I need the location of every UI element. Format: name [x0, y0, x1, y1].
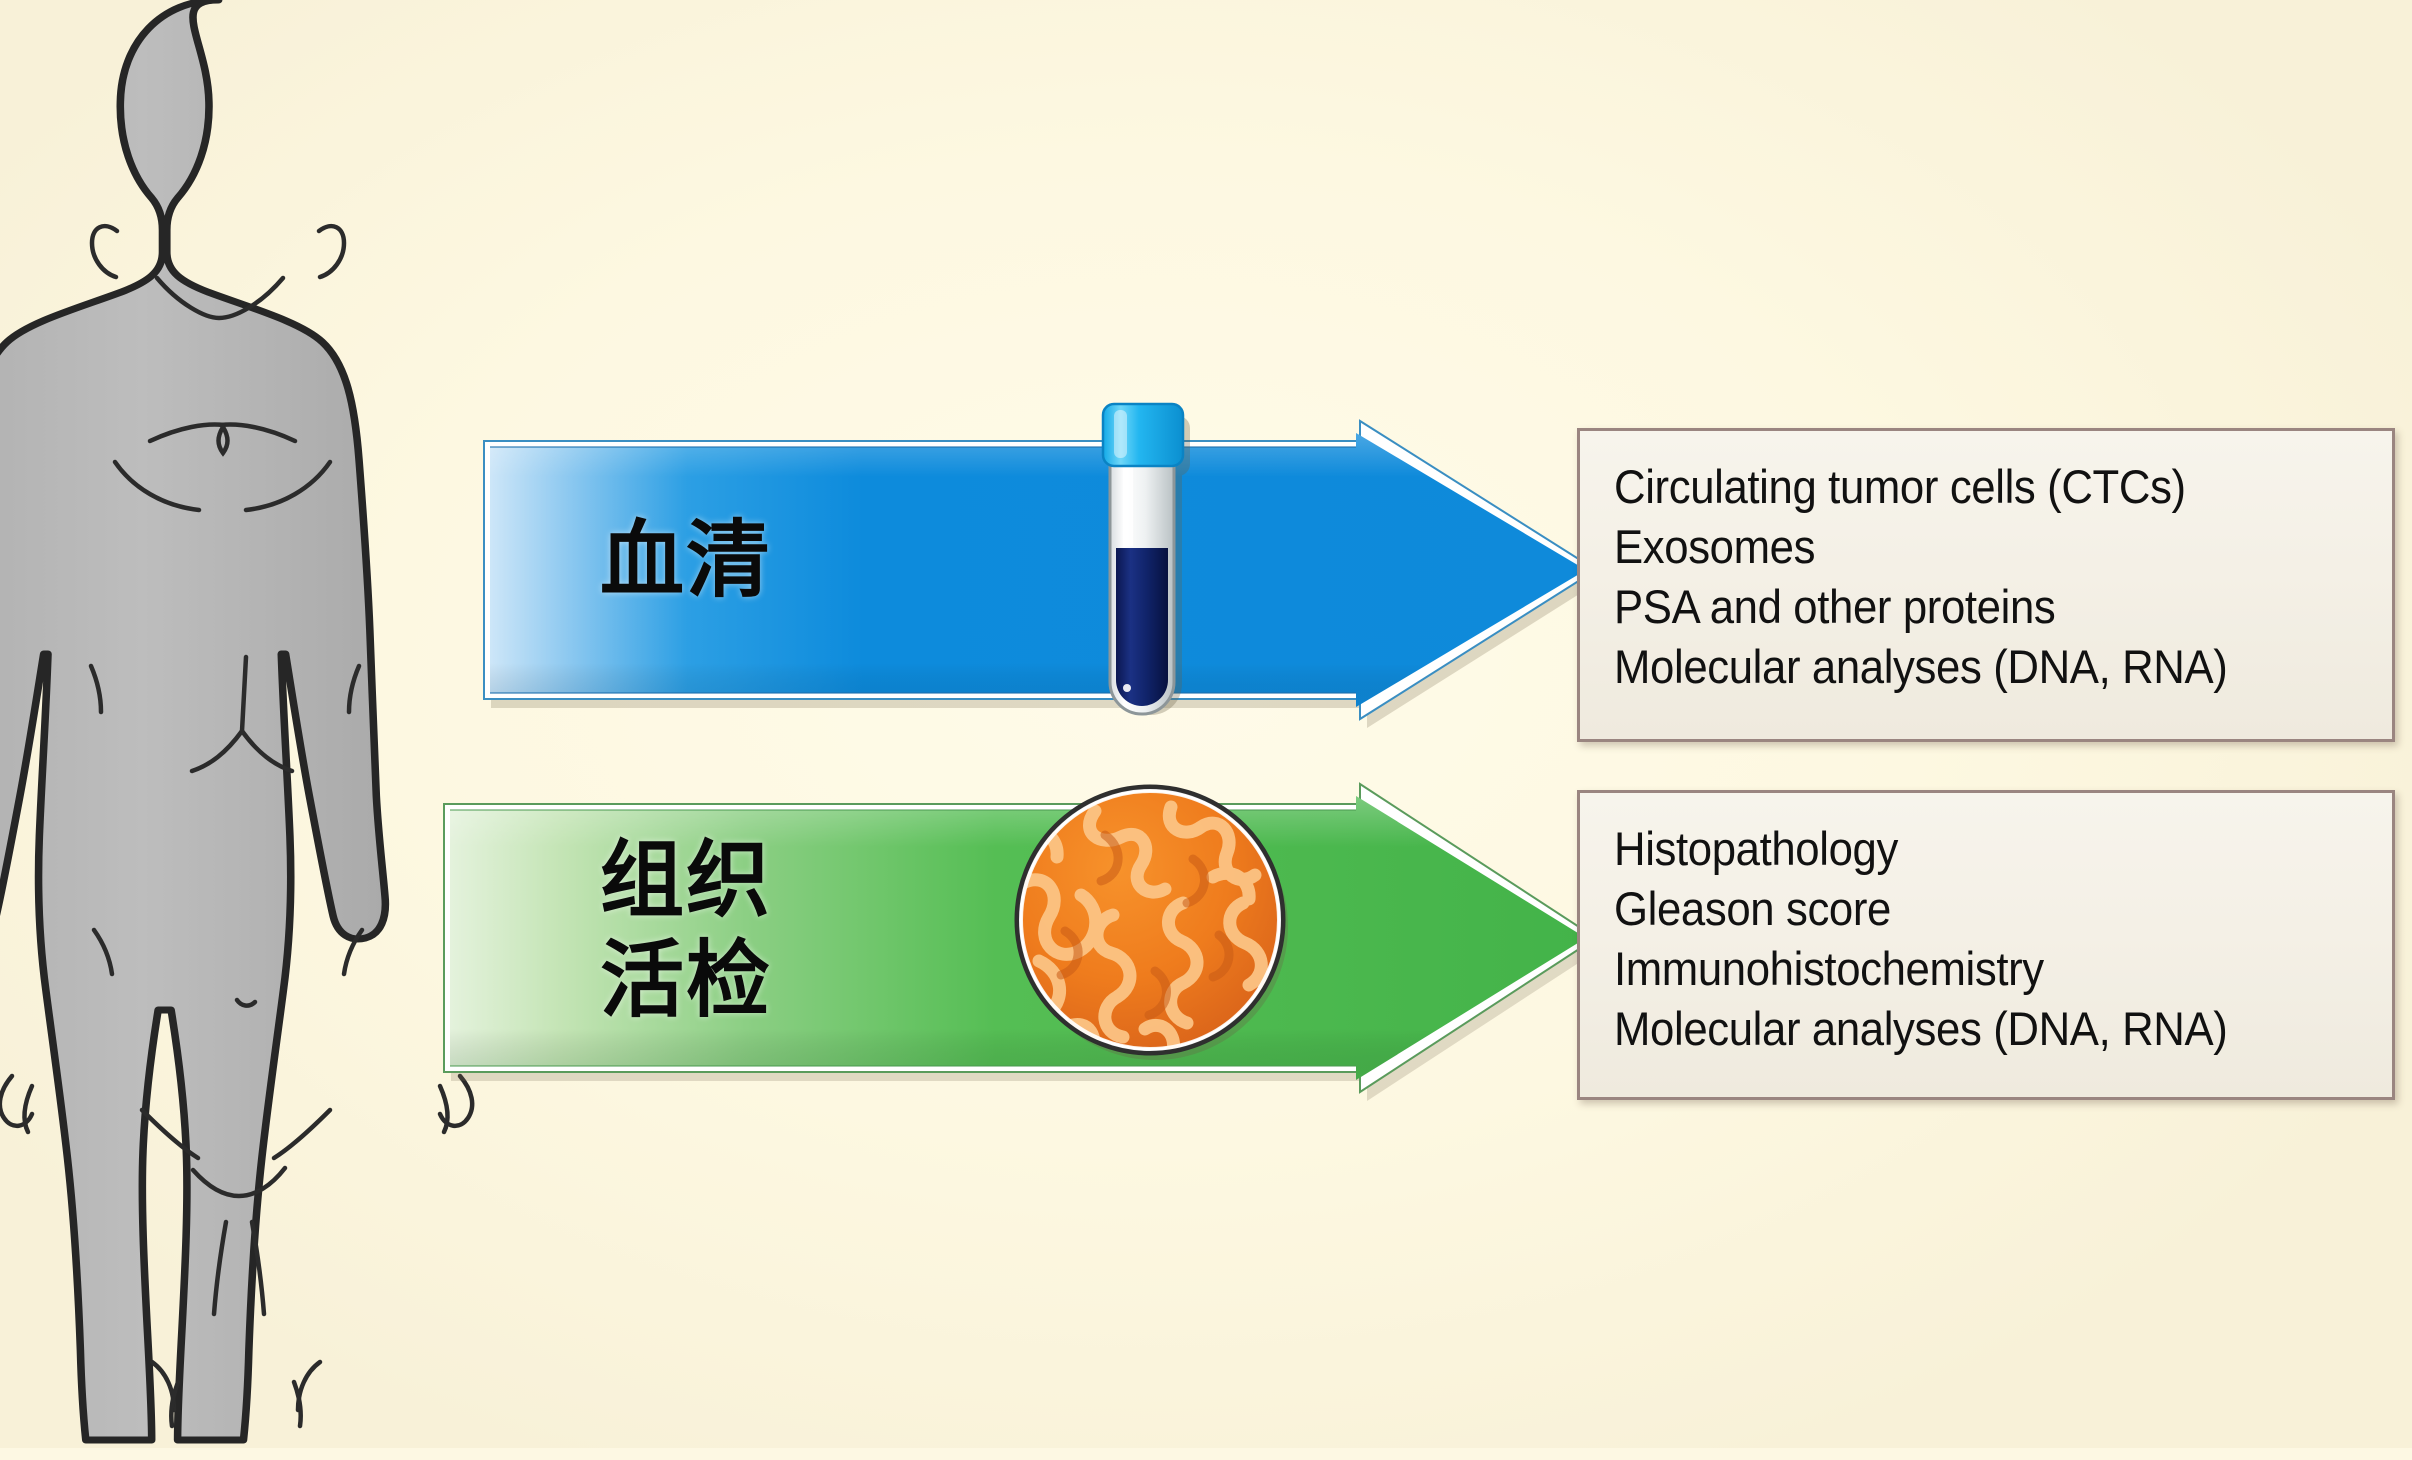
tissue-result-4: Molecular analyses (DNA, RNA) — [1614, 999, 2338, 1059]
tissue-biopsy-results-box: Histopathology Gleason score Immunohisto… — [1577, 790, 2395, 1100]
tissue-biopsy-arrow-label-line2: 活检 — [600, 938, 772, 1022]
serum-arrow-label: 血清 — [600, 518, 772, 602]
serum-result-4: Molecular analyses (DNA, RNA) — [1614, 637, 2338, 697]
human-body-silhouette-icon — [0, 0, 550, 1460]
serum-results-box: Circulating tumor cells (CTCs) Exosomes … — [1577, 428, 2395, 742]
tissue-histology-section-icon — [1005, 775, 1295, 1065]
tissue-biopsy-arrow-label-line1: 组织 — [600, 838, 772, 922]
diagram-canvas: 血清 — [0, 0, 2412, 1448]
tissue-result-1: Histopathology — [1614, 819, 2338, 879]
serum-result-2: Exosomes — [1614, 517, 2338, 577]
tissue-result-3: Immunohistochemistry — [1614, 939, 2338, 999]
tissue-result-2: Gleason score — [1614, 879, 2338, 939]
serum-result-1: Circulating tumor cells (CTCs) — [1614, 457, 2338, 517]
blood-collection-tube-icon — [1083, 400, 1203, 740]
serum-result-3: PSA and other proteins — [1614, 577, 2338, 637]
